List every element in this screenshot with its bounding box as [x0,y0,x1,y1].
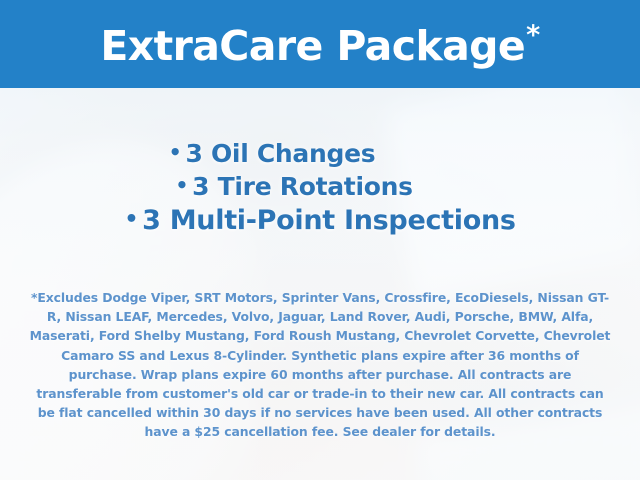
disclaimer-text: *Excludes Dodge Viper, SRT Motors, Sprin… [26,288,614,442]
page-title-text: ExtraCare Package [100,22,525,70]
list-item: •3 Tire Rotations [0,171,640,204]
bullet-icon: • [124,206,138,232]
extracare-package-ad: ExtraCare Package* •3 Oil Changes •3 Tir… [0,0,640,480]
list-item-label: 3 Oil Changes [185,139,375,168]
list-item-label: 3 Tire Rotations [192,172,413,201]
list-item: •3 Oil Changes [0,138,640,171]
list-item: •3 Multi-Point Inspections [0,203,640,238]
benefits-list: •3 Oil Changes •3 Tire Rotations •3 Mult… [0,138,640,238]
header-bar: ExtraCare Package* [0,0,640,88]
bullet-icon: • [169,140,182,164]
list-item-label: 3 Multi-Point Inspections [142,205,516,236]
bullet-icon: • [175,173,188,197]
page-title-asterisk: * [526,20,540,51]
page-title: ExtraCare Package* [100,22,539,67]
